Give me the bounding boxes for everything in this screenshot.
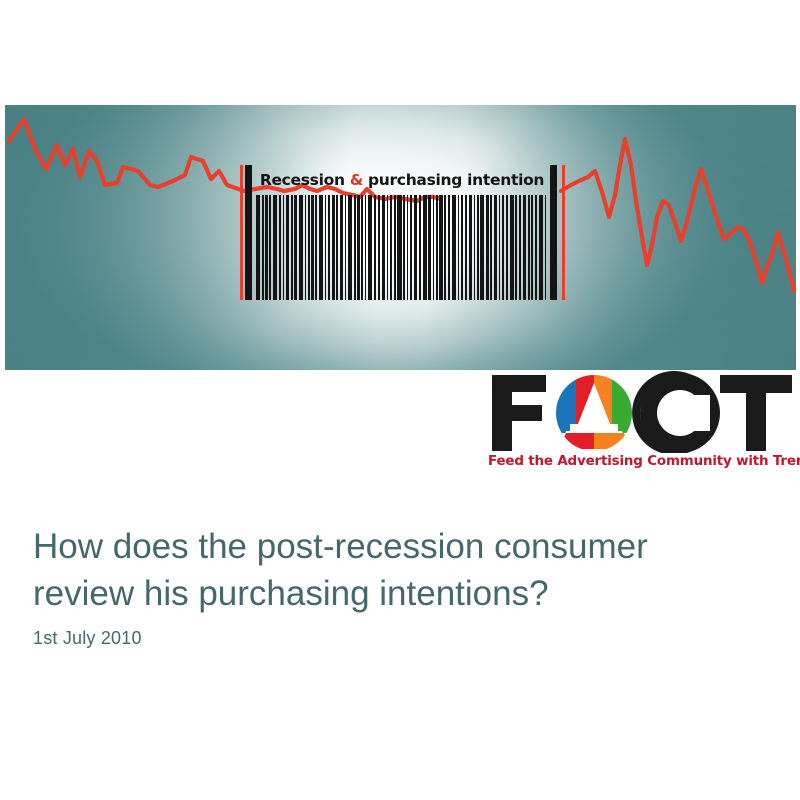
- barcode-label-ampersand: &: [350, 171, 363, 189]
- barcode-bar: [273, 195, 277, 300]
- barcode-bar: [397, 195, 401, 300]
- barcode-bar: [311, 195, 314, 300]
- barcode-bar: [539, 195, 543, 300]
- barcode-bar: [486, 195, 489, 300]
- barcode-bar: [283, 195, 285, 300]
- barcode-bar: [535, 195, 538, 300]
- barcode-bar: [291, 195, 293, 300]
- barcode-bar: [439, 195, 442, 300]
- fact-wordmark: [488, 371, 796, 453]
- page-title: How does the post-recession consumer rev…: [33, 523, 753, 617]
- barcode-bar: [269, 195, 271, 300]
- barcode-bar: [515, 195, 517, 300]
- barcode-bar: [499, 195, 501, 300]
- barcode-label-part2: purchasing intention: [368, 171, 544, 189]
- barcode-bar: [382, 195, 385, 300]
- barcode-bar: [348, 195, 352, 300]
- barcode-bar: [423, 195, 427, 300]
- barcode-bar: [345, 195, 347, 300]
- barcode-bar: [294, 195, 297, 300]
- barcode-bar: [474, 195, 476, 300]
- barcode-bar: [502, 195, 505, 300]
- barcode-guard-bar-left: [245, 165, 252, 300]
- barcode-label: Recession & purchasing intention: [258, 167, 546, 193]
- presentation-date: 1st July 2010: [33, 628, 142, 649]
- logo-letter-f: [492, 375, 546, 451]
- barcode-guard-bar-right: [550, 165, 557, 300]
- barcode-bar: [319, 195, 323, 300]
- barcode-bar: [354, 195, 356, 300]
- barcode-bar: [465, 195, 467, 300]
- barcode-red-rule-right: [562, 165, 565, 300]
- barcode-bar: [480, 195, 484, 300]
- barcode-bar: [407, 195, 409, 300]
- barcode-bar: [256, 195, 260, 300]
- barcode-bar: [545, 195, 547, 300]
- barcode-bar: [448, 195, 451, 300]
- barcode-bar: [452, 195, 456, 300]
- barcode-bar: [490, 195, 492, 300]
- barcode-bar: [419, 195, 421, 300]
- barcode-bar: [265, 195, 268, 300]
- logo-letter-t: [720, 375, 792, 451]
- barcode-bar: [390, 195, 393, 300]
- title-slide: Recession & purchasing intention: [0, 0, 800, 800]
- barcode-bar: [433, 195, 435, 300]
- barcode-bars: [256, 195, 548, 300]
- barcode-bar: [340, 195, 343, 300]
- barcode-bar: [414, 195, 417, 300]
- barcode-bar: [374, 195, 377, 300]
- logo-letter-a-mark: [548, 375, 640, 453]
- barcode-bar: [477, 195, 479, 300]
- barcode-bar: [328, 195, 331, 300]
- barcode-bar: [365, 195, 367, 300]
- barcode-bar: [531, 195, 533, 300]
- barcode-bar: [387, 195, 389, 300]
- barcode-bar: [332, 195, 335, 300]
- barcode-bar: [299, 195, 303, 300]
- barcode-bar: [279, 195, 282, 300]
- barcode-graphic: Recession & purchasing intention: [240, 165, 565, 300]
- barcode-bar: [519, 195, 522, 300]
- logo-letter-c: [632, 371, 720, 453]
- fact-tagline: Feed the Advertising Community with Tren…: [488, 454, 796, 469]
- page-title-line-2: review his purchasing intentions?: [33, 570, 753, 617]
- barcode-bar: [361, 195, 363, 300]
- barcode-bar: [286, 195, 289, 300]
- barcode-bar: [305, 195, 307, 300]
- barcode-label-part1: Recession: [260, 171, 345, 189]
- barcode-bar: [336, 195, 338, 300]
- barcode-bar: [368, 195, 372, 300]
- barcode-bar: [461, 195, 464, 300]
- page-title-line-1: How does the post-recession consumer: [33, 523, 753, 570]
- hero-banner: Recession & purchasing intention: [5, 105, 796, 370]
- barcode-bar: [506, 195, 508, 300]
- barcode-bar: [469, 195, 472, 300]
- barcode-bar: [436, 195, 438, 300]
- barcode-bar: [308, 195, 310, 300]
- barcode-bar: [325, 195, 327, 300]
- fact-logo: Feed the Advertising Community with Tren…: [488, 371, 796, 479]
- barcode-bar: [510, 195, 514, 300]
- barcode-bar: [528, 195, 530, 300]
- barcode-bar: [494, 195, 497, 300]
- barcode-bar: [378, 195, 380, 300]
- barcode-bar: [458, 195, 460, 300]
- barcode-bar: [428, 195, 431, 300]
- barcode-bar: [262, 195, 264, 300]
- barcode-bar: [357, 195, 360, 300]
- barcode-bar: [315, 195, 317, 300]
- barcode-bar: [403, 195, 405, 300]
- barcode-bar: [410, 195, 413, 300]
- barcode-bar: [523, 195, 526, 300]
- barcode-bar: [394, 195, 396, 300]
- barcode-bar: [444, 195, 446, 300]
- barcode-red-rule-left: [240, 165, 243, 300]
